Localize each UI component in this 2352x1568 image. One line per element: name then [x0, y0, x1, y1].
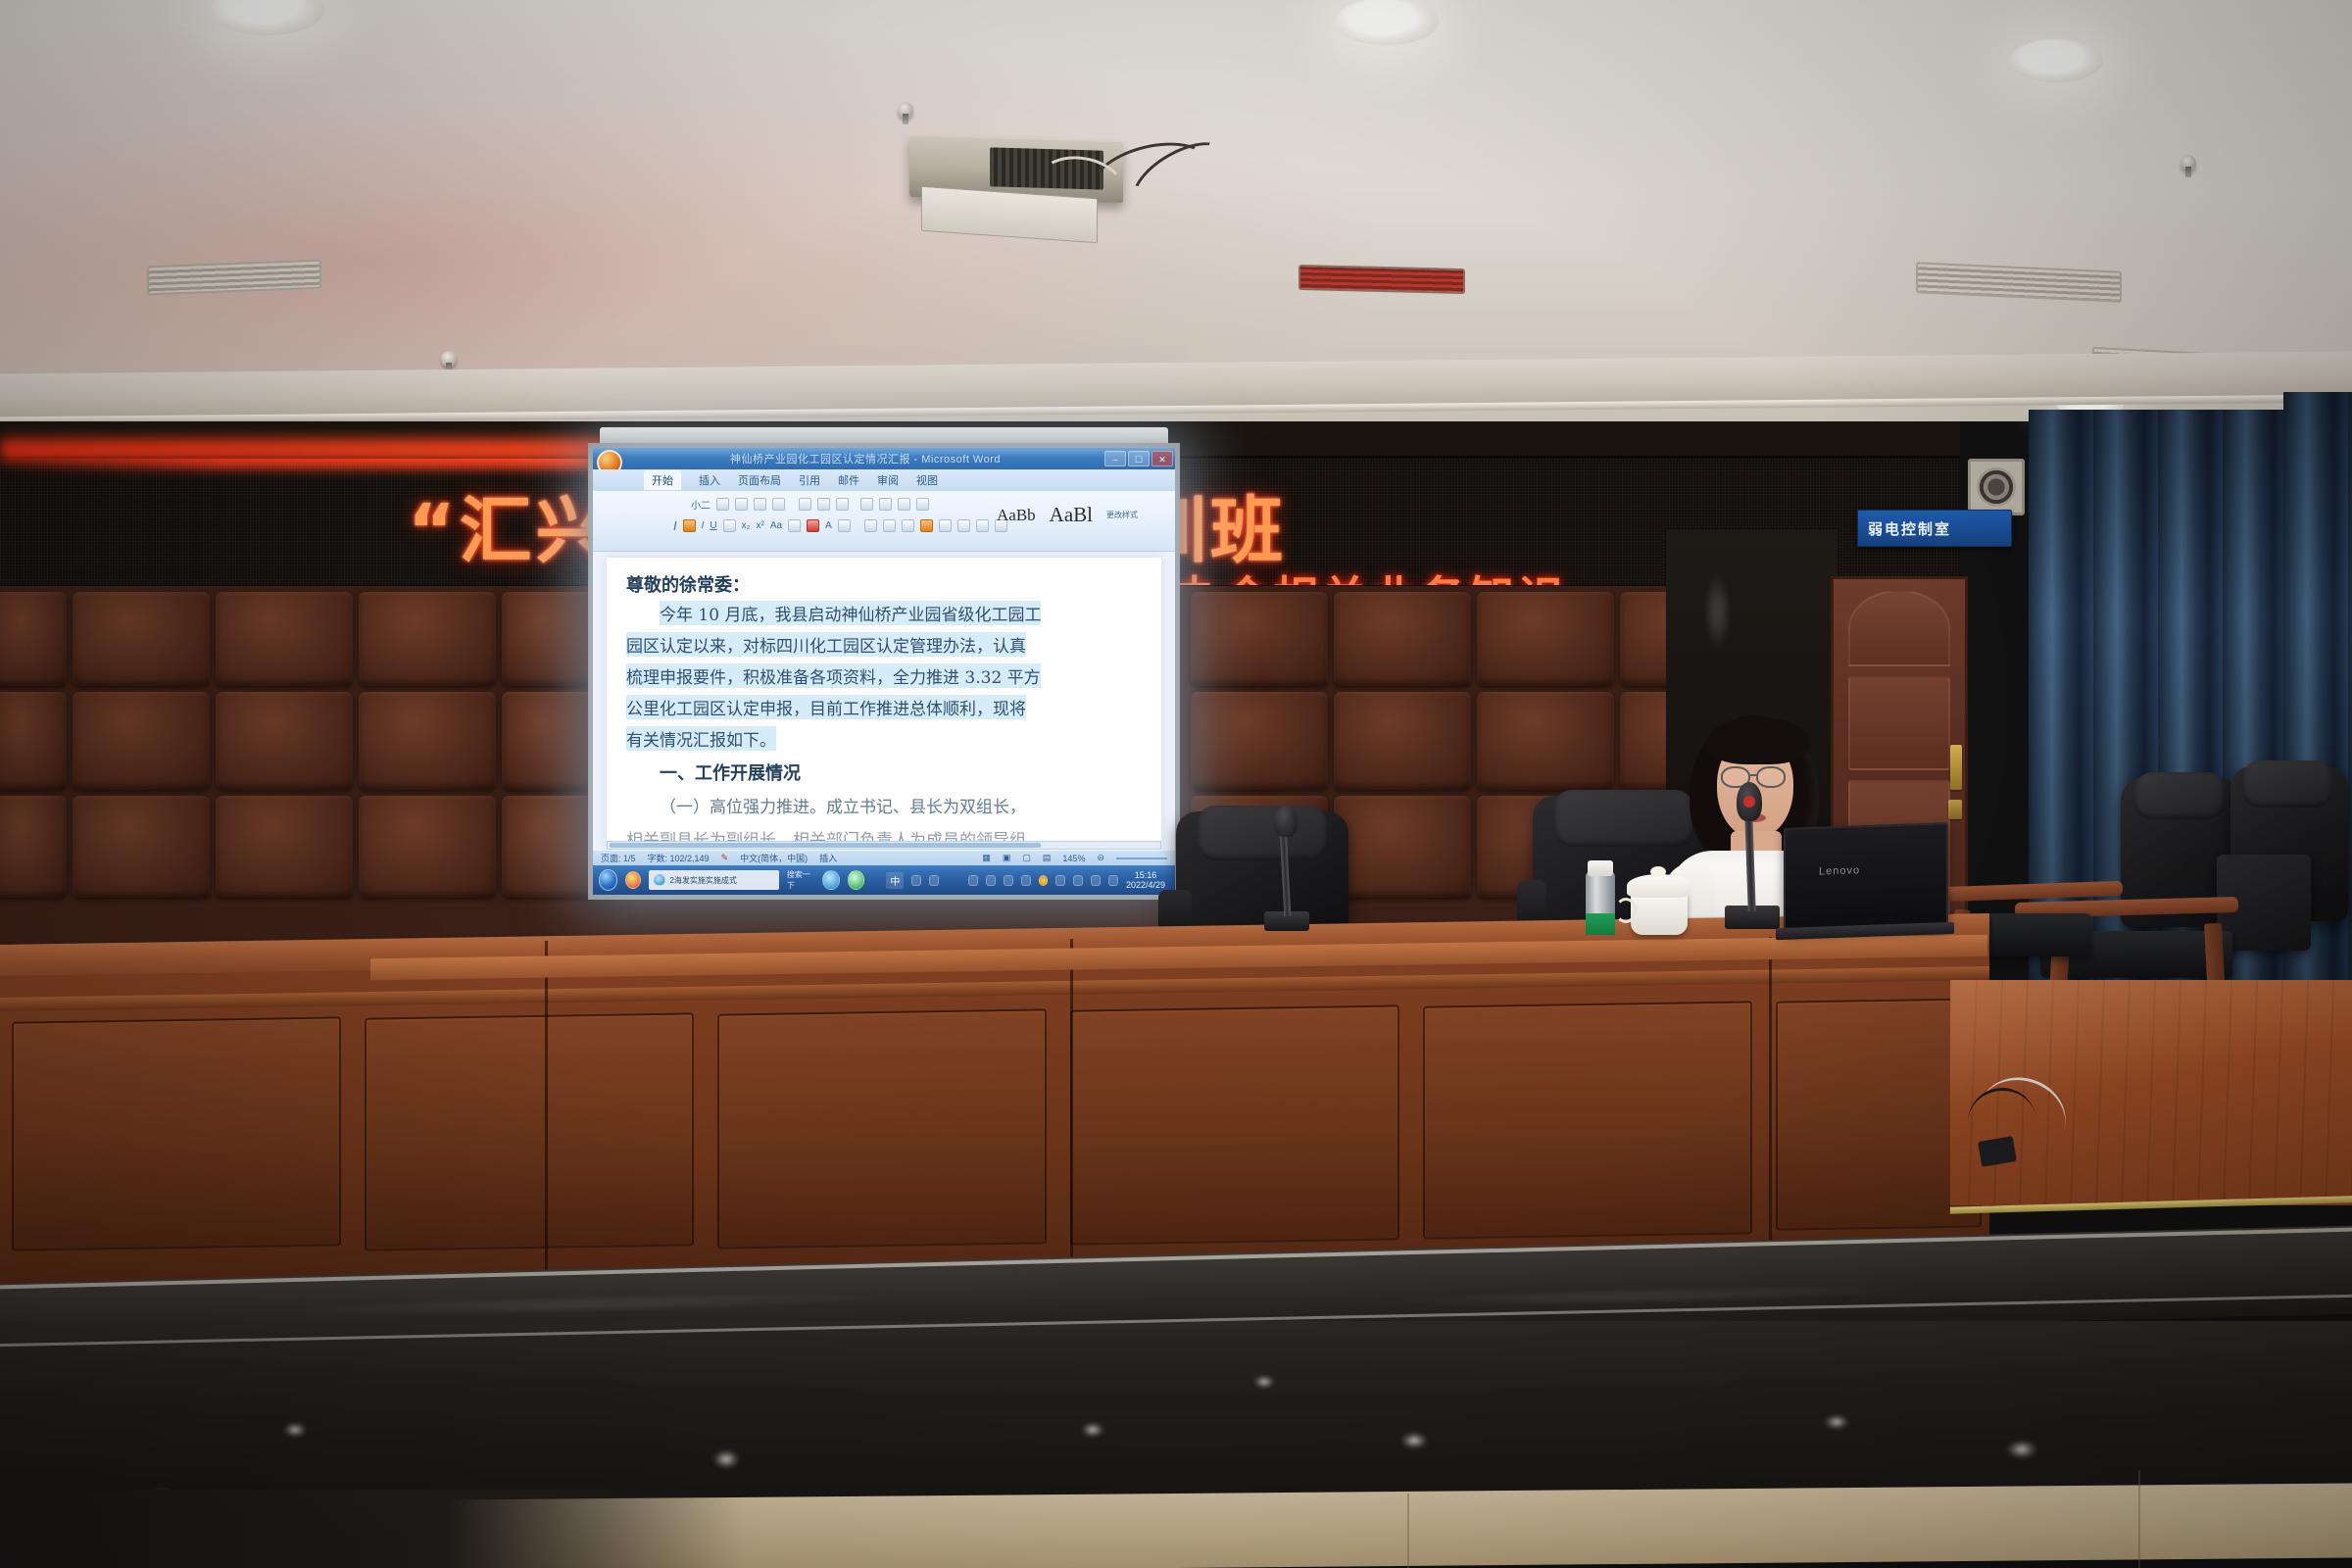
tab-references[interactable]: 引用 [799, 472, 820, 488]
floor-light-reflection [284, 1423, 306, 1437]
windows-taskbar: 2海发实施实施成式 搜索一下 中 15:16 2022/4/29 [593, 865, 1175, 895]
floor-light-reflection [1825, 1415, 1848, 1429]
view-outline-icon[interactable]: ▤ [1043, 853, 1052, 863]
tea-cup-handle [1615, 898, 1637, 923]
table-panel [1423, 1001, 1752, 1239]
doc-line: 梳理申报要件，积极准备各项资料，全力推进 3.32 平方 [626, 663, 1041, 688]
ime-tool-2-icon[interactable] [929, 875, 939, 886]
leather-tile [73, 592, 210, 686]
change-case-icon[interactable]: Aa [770, 520, 782, 531]
align-center-icon[interactable] [883, 519, 896, 532]
table-seam [1070, 939, 1073, 1292]
chair-headrest [1198, 806, 1327, 860]
ribbon-row-format: I I U x₂ x² Aa A [673, 518, 1007, 533]
table-seam [545, 941, 548, 1294]
word-ribbon-tabs: 开始 插入 页面布局 引用 邮件 审阅 视图 [593, 469, 1175, 491]
scrollbar-thumb[interactable] [610, 843, 1041, 848]
chair-headrest [2242, 760, 2332, 808]
leather-tile [216, 592, 353, 686]
italic-alt-icon[interactable]: I [702, 520, 705, 531]
led-text-line-1-left: “汇兴 [408, 472, 600, 577]
status-language[interactable]: 中文(简体，中国) [740, 852, 808, 864]
ie-icon [654, 874, 665, 886]
door-arch-panel [1848, 590, 1950, 666]
glasses-right-lens [1756, 766, 1786, 788]
leather-tile [216, 692, 353, 790]
floor-light-reflection [2007, 1441, 2036, 1458]
font-color-icon[interactable] [807, 519, 819, 532]
floor-tile-seam [1407, 1494, 1409, 1568]
floor-beige-left-dark [0, 1490, 745, 1568]
font-size-value[interactable]: 小二 [691, 497, 710, 512]
doc-line: 有关情况汇报如下。 [626, 726, 776, 751]
glasses-bridge [1750, 774, 1758, 776]
view-web-layout-icon[interactable]: ▢ [1022, 853, 1031, 863]
status-word-count: 字数: 102/2,149 [648, 852, 710, 864]
person-fringe [1707, 717, 1809, 764]
word-title-text: 神仙桥产业园化工园区认定情况汇报 - Microsoft Word [626, 451, 1104, 466]
minimize-button[interactable]: – [1104, 451, 1126, 466]
ac-vent-center [1298, 265, 1465, 294]
wall-speaker [1968, 459, 2025, 515]
sprinkler-head-3 [2180, 155, 2196, 171]
tray-display-icon[interactable] [986, 875, 996, 886]
justify-icon[interactable] [920, 519, 933, 532]
word-status-bar: 页面: 1/5 字数: 102/2,149 ✎ 中文(简体，中国) 插入 ▦ ▣… [593, 851, 1175, 865]
tab-view[interactable]: 视图 [916, 472, 938, 488]
laptop-brand-label: Lenovo [1819, 864, 1860, 877]
doc-line: 公里化工园区认定申报，目前工作推进总体顺利，现将 [626, 695, 1026, 719]
horizontal-scrollbar[interactable] [607, 841, 1161, 850]
phonetic-guide-icon[interactable] [772, 498, 785, 511]
numbering-icon[interactable] [817, 498, 830, 511]
tab-insert[interactable]: 插入 [699, 472, 720, 488]
bold-icon[interactable] [683, 519, 696, 532]
led-text-line-2: 办会相关业务知识 [1175, 563, 1567, 588]
zoom-out-icon[interactable]: ⊖ [1097, 853, 1104, 863]
leather-tile [1191, 592, 1328, 686]
leather-tile [1334, 692, 1471, 790]
enclose-char-icon[interactable] [838, 519, 851, 532]
floor-light-reflection [1082, 1423, 1103, 1437]
table-panel [717, 1008, 1047, 1249]
room-sign-weak-current-control: 弱电控制室 [1857, 510, 2012, 547]
table-panel [1070, 1004, 1399, 1245]
increase-indent-icon[interactable] [879, 498, 892, 511]
floor-light-reflection [1401, 1433, 1427, 1448]
doc-line: 尊敬的徐常委： [626, 571, 750, 597]
ribbon-row-styles: AaBb AaBl 更改样式 [997, 503, 1138, 527]
media-player-icon[interactable] [625, 871, 641, 889]
doc-line: 今年 10 月底，我县启动神仙桥产业园省级化工园工 [660, 601, 1041, 625]
projection-screen: 神仙桥产业园化工园区认定情况汇报 - Microsoft Word – ☐ ✕ … [593, 448, 1175, 895]
character-border-icon[interactable]: A [825, 520, 832, 531]
doc-line: （一）高位强力推进。成立书记、县长为双组长， [660, 793, 1026, 817]
leather-tile [0, 692, 67, 790]
table-panel [365, 1012, 694, 1250]
leather-tile [0, 796, 67, 898]
subscript-icon[interactable]: x₂ [742, 520, 751, 531]
internet-explorer-icon[interactable] [822, 870, 840, 890]
word-titlebar: 神仙桥产业园化工园区认定情况汇报 - Microsoft Word – ☐ ✕ [593, 448, 1175, 469]
status-zoom-level[interactable]: 145% [1062, 854, 1085, 863]
tab-review[interactable]: 审阅 [877, 472, 899, 488]
bottle-label [1586, 913, 1615, 935]
ime-tool-1-icon[interactable] [911, 875, 921, 886]
word-document-page[interactable]: 尊敬的徐常委： 今年 10 月底，我县启动神仙桥产业园省级化工园工 园区认定以来… [607, 558, 1161, 852]
tray-security-icon[interactable] [968, 875, 978, 886]
tea-cup-lid [1627, 874, 1691, 898]
tray-action-center-icon[interactable] [1091, 875, 1101, 886]
leather-tile [359, 796, 496, 898]
view-fullscreen-icon[interactable]: ▣ [1003, 853, 1011, 863]
tray-volume-icon[interactable] [1073, 875, 1083, 886]
underline-icon[interactable]: U [710, 520, 716, 531]
tray-shield-icon[interactable] [1055, 875, 1065, 886]
leather-tile [502, 796, 598, 898]
leather-tile [1477, 592, 1614, 686]
ceiling-downlight-3 [2009, 39, 2103, 82]
leather-tile [502, 592, 598, 686]
show-marks-icon[interactable] [916, 498, 929, 511]
strikethrough-icon[interactable] [723, 519, 736, 532]
italic-icon[interactable]: I [673, 518, 677, 533]
tray-antivirus-icon[interactable] [1021, 875, 1031, 886]
highlight-color-icon[interactable] [788, 519, 801, 532]
change-styles-label[interactable]: 更改样式 [1106, 510, 1138, 520]
microphone-tip-light [1743, 796, 1755, 808]
style-normal[interactable]: AaBb [997, 506, 1036, 525]
door-lock-plate [1948, 800, 1962, 819]
tea-cup-knob [1650, 866, 1666, 877]
speaker-grille [1977, 467, 2017, 508]
decrease-indent-icon[interactable] [860, 498, 873, 511]
browser-icon[interactable] [848, 870, 865, 890]
style-heading1[interactable]: AaBl [1050, 503, 1093, 527]
sprinkler-head-2 [441, 351, 457, 367]
leather-tile [73, 692, 210, 790]
close-button[interactable]: ✕ [1151, 451, 1173, 466]
leather-tile [359, 592, 496, 686]
conference-room-photo: “汇兴 训班 办会相关业务知识 弱电控制 [0, 0, 2352, 1568]
leather-tile [0, 592, 67, 686]
bullets-icon[interactable] [799, 498, 811, 511]
led-display-left: “汇兴 [0, 456, 600, 588]
floor-tile-seam [2138, 1470, 2140, 1568]
taskbar-window-title: 2海发实施实施成式 [669, 875, 736, 886]
table-seam [1769, 937, 1772, 1292]
word-ribbon: 小二 I I U x₂ x² Aa [593, 491, 1175, 552]
ceiling-downlight-2 [1335, 0, 1439, 45]
start-button[interactable] [599, 869, 617, 891]
led-display-right: 训班 办会相关业务知识 [1151, 456, 1960, 588]
ime-indicator[interactable]: 中 [886, 872, 904, 889]
shrink-font-icon[interactable] [735, 498, 748, 511]
bottle-cap [1588, 860, 1613, 876]
tab-mailings[interactable]: 邮件 [838, 472, 859, 488]
shading-icon[interactable] [976, 519, 989, 532]
leather-tile [216, 796, 353, 898]
tray-update-icon[interactable] [1039, 875, 1049, 886]
sprinkler-head-1 [898, 102, 913, 118]
superscript-icon[interactable]: x² [757, 520, 764, 531]
executive-chair-left[interactable] [1158, 796, 1364, 938]
tab-home[interactable]: 开始 [644, 470, 681, 490]
leather-tile [1477, 692, 1614, 790]
leather-tile [1191, 692, 1328, 790]
laptop-screen[interactable]: Lenovo [1784, 822, 1948, 934]
leather-tile [73, 796, 210, 898]
table-panel [12, 1016, 341, 1250]
maximize-button[interactable]: ☐ [1128, 451, 1150, 466]
tray-network-icon[interactable] [1004, 875, 1013, 886]
leather-tile [359, 692, 496, 790]
tray-bluetooth-icon[interactable] [1108, 875, 1118, 886]
chair-headrest [2134, 772, 2225, 819]
tab-page-layout[interactable]: 页面布局 [738, 472, 781, 488]
distribute-icon[interactable] [939, 519, 952, 532]
taskbar-search-label[interactable]: 搜索一下 [787, 869, 814, 891]
line-spacing-icon[interactable] [957, 519, 970, 532]
align-left-icon[interactable] [864, 519, 877, 532]
align-right-icon[interactable] [902, 519, 914, 532]
taskbar-window-word[interactable]: 2海发实施实施成式 [649, 870, 778, 890]
floor-light-reflection [1254, 1376, 1274, 1388]
microphone-head-left [1274, 806, 1298, 837]
multilevel-list-icon[interactable] [836, 498, 849, 511]
doc-line: 一、工作开展情况 [660, 759, 801, 785]
doc-line: 园区认定以来，对标四川化工园区认定管理办法，认真 [626, 632, 1026, 657]
view-print-layout-icon[interactable]: ▦ [982, 853, 991, 863]
room-sign-label: 弱电控制室 [1868, 518, 1951, 539]
ribbon-row-font: 小二 [691, 497, 929, 512]
status-insert-mode[interactable]: 插入 [819, 852, 837, 864]
leather-tile [502, 692, 598, 790]
status-page-number: 页面: 1/5 [601, 852, 636, 864]
clear-format-icon[interactable] [754, 498, 766, 511]
floor-light-reflection [713, 1450, 739, 1468]
proofing-icon[interactable]: ✎ [721, 853, 729, 863]
grow-font-icon[interactable] [716, 498, 729, 511]
sort-icon[interactable] [898, 498, 910, 511]
leather-tile [1334, 592, 1471, 686]
door-handle[interactable] [1950, 745, 1962, 790]
